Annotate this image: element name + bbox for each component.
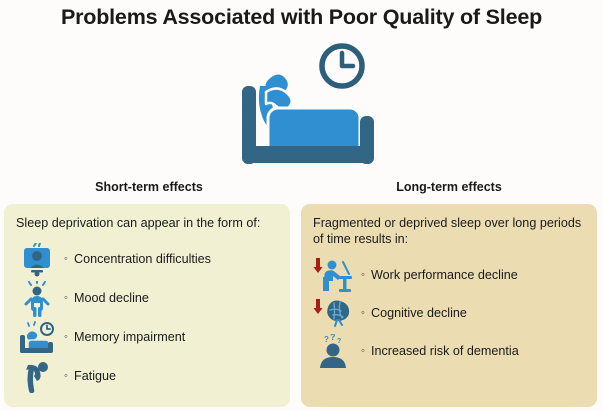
list-item: ◦ Concentration difficulties	[16, 240, 278, 279]
short-term-panel: Sleep deprivation can appear in the form…	[4, 204, 290, 407]
clock-icon	[322, 46, 362, 86]
short-term-list: ◦ Concentration difficulties ◦ Mood decl…	[16, 240, 278, 396]
person-with-question-marks-icon: ? ? ?	[313, 333, 355, 369]
bed-base	[242, 146, 374, 163]
bullet-marker: ◦	[58, 254, 74, 265]
effect-label: Mood decline	[74, 291, 149, 306]
person-at-desk-icon	[313, 257, 355, 293]
down-arrow-icon	[314, 258, 323, 273]
bullet-marker: ◦	[355, 346, 371, 357]
bullet-marker: ◦	[58, 371, 74, 382]
hero-illustration	[222, 40, 402, 172]
effect-label: Memory impairment	[74, 330, 185, 345]
long-term-heading: Long-term effects	[301, 180, 597, 194]
bed-with-clock-icon	[16, 320, 58, 356]
bed-footboard	[360, 116, 374, 164]
bullet-marker: ◦	[355, 308, 371, 319]
down-arrow-icon	[314, 299, 323, 314]
svg-text:?: ?	[330, 334, 336, 342]
frustrated-person-icon	[16, 281, 58, 317]
slumped-person-icon	[16, 359, 58, 395]
person-at-monitor-icon	[16, 242, 58, 278]
list-item: ? ? ? ◦ Increased risk of dementia	[313, 332, 585, 370]
svg-text:?: ?	[324, 335, 329, 344]
short-term-intro: Sleep deprivation can appear in the form…	[16, 215, 278, 231]
bullet-marker: ◦	[58, 293, 74, 304]
list-item: ◦ Work performance decline	[313, 256, 585, 294]
infographic-root: Problems Associated with Poor Quality of…	[0, 0, 603, 411]
long-term-panel: Fragmented or deprived sleep over long p…	[301, 204, 597, 407]
effect-label: Increased risk of dementia	[371, 344, 519, 359]
short-term-heading: Short-term effects	[4, 180, 294, 194]
list-item: ◦ Cognitive decline	[313, 294, 585, 332]
bullet-marker: ◦	[355, 270, 371, 281]
page-title: Problems Associated with Poor Quality of…	[0, 4, 603, 30]
effect-label: Concentration difficulties	[74, 252, 211, 267]
brain-icon	[313, 295, 355, 331]
list-item: ◦ Mood decline	[16, 279, 278, 318]
effect-label: Cognitive decline	[371, 306, 467, 321]
long-term-list: ◦ Work performance decline ◦	[313, 256, 585, 370]
bullet-marker: ◦	[58, 332, 74, 343]
effect-label: Work performance decline	[371, 268, 518, 283]
list-item: ◦ Fatigue	[16, 357, 278, 396]
list-item: ◦ Memory impairment	[16, 318, 278, 357]
long-term-intro: Fragmented or deprived sleep over long p…	[313, 215, 585, 247]
effect-label: Fatigue	[74, 369, 116, 384]
svg-text:?: ?	[337, 338, 341, 345]
